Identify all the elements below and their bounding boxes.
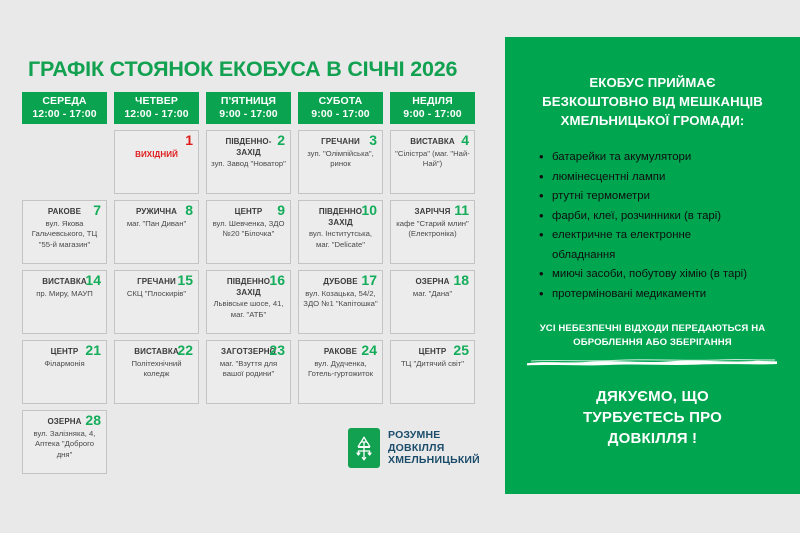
calendar-week-row: 7РАКОВЕвул. Якова Гальчевського, ТЦ "55-…	[22, 200, 490, 264]
stop-address: СКЦ "Плоскирів"	[127, 289, 186, 300]
stop-name: РАКОВЕ	[324, 347, 357, 358]
calendar-day-cell-23[interactable]: 23ЗАГОТЗЕРНОмаг. "Взуття для вашої родин…	[206, 340, 291, 404]
stop-address: вул. Шевченка, ЗДО №20 "Білочка"	[211, 219, 286, 240]
stop-address: вул. Дудченка, Готель-гуртожиток	[303, 359, 378, 380]
calendar-day-cell-22[interactable]: 22ВИСТАВКАПолітехнічний коледж	[114, 340, 199, 404]
day-header-3: П'ЯТНИЦЯ9:00 - 17:00	[206, 92, 291, 124]
day-number: 8	[185, 203, 193, 218]
thanks-line-1: ДЯКУЄМО, ЩО	[505, 386, 800, 407]
thanks-message: ДЯКУЄМО, ЩОТУРБУЄТЕСЬ ПРОДОВКІЛЛЯ !	[505, 386, 800, 449]
accepted-item: протерміновані медикаменти	[539, 285, 790, 305]
day-header-name: СЕРЕДА	[42, 95, 86, 108]
calendar-day-cell-15[interactable]: 15ГРЕЧАНИСКЦ "Плоскирів"	[114, 270, 199, 334]
stop-name: ВИХІДНИЙ	[135, 150, 178, 161]
recycling-tree-icon	[348, 428, 380, 468]
day-number: 25	[453, 343, 469, 358]
accepted-items-list: батарейки та акумуляторилюмінесцентні ла…	[505, 148, 800, 304]
calendar-day-cell-9[interactable]: 9ЦЕНТРвул. Шевченка, ЗДО №20 "Білочка"	[206, 200, 291, 264]
day-number: 3	[369, 133, 377, 148]
schedule-panel: ГРАФІК СТОЯНОК ЕКОБУСА В СІЧНІ 2026 СЕРЕ…	[0, 0, 505, 533]
stop-name: ГРЕЧАНИ	[137, 277, 176, 288]
logo-line-3: ХМЕЛЬНИЦЬКИЙ	[388, 454, 480, 467]
calendar-header-row: СЕРЕДА12:00 - 17:00ЧЕТВЕР12:00 - 17:00П'…	[22, 92, 490, 124]
day-header-2: ЧЕТВЕР12:00 - 17:00	[114, 92, 199, 124]
stop-address: "Сілістра" (маг. "Най-Най")	[395, 149, 470, 170]
stop-address: маг. "Взуття для вашої родини"	[211, 359, 286, 380]
logo-text: РОЗУМНЕ ДОВКІЛЛЯ ХМЕЛЬНИЦЬКИЙ	[388, 429, 480, 467]
calendar-day-cell-28[interactable]: 28ОЗЕРНАвул. Залізняка, 4, Аптека "Добро…	[22, 410, 107, 474]
accepted-item-continuation: обладнання	[552, 246, 790, 266]
stop-name: ЗАГОТЗЕРНО	[221, 347, 276, 358]
stop-address: маг. "Пан Диван"	[127, 219, 186, 230]
disposal-note: УСІ НЕБЕЗПЕЧНІ ВІДХОДИ ПЕРЕДАЮТЬСЯ НА ОБ…	[505, 322, 800, 349]
day-header-5: НЕДІЛЯ9:00 - 17:00	[390, 92, 475, 124]
calendar-day-cell-21[interactable]: 21ЦЕНТРФілармонія	[22, 340, 107, 404]
calendar-week-row: 1ВИХІДНИЙ2ПІВДЕННО-ЗАХІДзуп. Завод "Нова…	[22, 130, 490, 194]
calendar-day-cell-24[interactable]: 24РАКОВЕвул. Дудченка, Готель-гуртожиток	[298, 340, 383, 404]
disposal-note-line-2: ОБРОБЛЕННЯ АБО ЗБЕРІГАННЯ	[513, 336, 792, 350]
accepted-item: фарби, клеї, розчинники (в тарі)	[539, 207, 790, 227]
calendar-cell-empty	[206, 410, 291, 474]
calendar-week-row: 14ВИСТАВКАпр. Миру, МАУП15ГРЕЧАНИСКЦ "Пл…	[22, 270, 490, 334]
stop-address: кафе "Старий млин" (Електроніка)	[395, 219, 470, 240]
stop-address: зуп. Завод "Новатор"	[211, 159, 286, 170]
calendar-day-cell-17[interactable]: 17ДУБОВЕвул. Козацька, 54/2, ЗДО №1 "Кап…	[298, 270, 383, 334]
day-number: 7	[93, 203, 101, 218]
stop-address: Філармонія	[44, 359, 84, 370]
day-number: 23	[269, 343, 285, 358]
accept-heading-line-2: БЕЗКОШТОВНО ВІД МЕШКАНЦІВ	[519, 92, 786, 111]
accepted-item: ртутні термометри	[539, 187, 790, 207]
day-header-4: СУБОТА9:00 - 17:00	[298, 92, 383, 124]
thanks-line-3: ДОВКІЛЛЯ !	[505, 428, 800, 449]
calendar-day-cell-8[interactable]: 8РУЖИЧНАмаг. "Пан Диван"	[114, 200, 199, 264]
calendar-week-row: 21ЦЕНТРФілармонія22ВИСТАВКАПолітехнічний…	[22, 340, 490, 404]
calendar-day-cell-16[interactable]: 16ПІВДЕННО ЗАХІДЛьвівське шосе, 41, маг.…	[206, 270, 291, 334]
accept-heading: ЕКОБУС ПРИЙМАЄБЕЗКОШТОВНО ВІД МЕШКАНЦІВХ…	[505, 37, 800, 130]
calendar-grid: СЕРЕДА12:00 - 17:00ЧЕТВЕР12:00 - 17:00П'…	[22, 92, 490, 480]
day-header-1: СЕРЕДА12:00 - 17:00	[22, 92, 107, 124]
day-header-name: П'ЯТНИЦЯ	[221, 95, 276, 108]
calendar-day-cell-3[interactable]: 3ГРЕЧАНИзуп. "Олімпійська", ринок	[298, 130, 383, 194]
day-number: 1	[185, 133, 193, 148]
accepted-item: люмінесцентні лампи	[539, 168, 790, 188]
calendar-day-cell-2[interactable]: 2ПІВДЕННО-ЗАХІДзуп. Завод "Новатор"	[206, 130, 291, 194]
accepted-item: батарейки та акумулятори	[539, 148, 790, 168]
stop-name: ВИСТАВКА	[134, 347, 179, 358]
stop-name: ГРЕЧАНИ	[321, 137, 360, 148]
accept-heading-line-1: ЕКОБУС ПРИЙМАЄ	[519, 73, 786, 92]
day-number: 10	[361, 203, 377, 218]
day-header-name: СУБОТА	[319, 95, 363, 108]
info-panel: ЕКОБУС ПРИЙМАЄБЕЗКОШТОВНО ВІД МЕШКАНЦІВХ…	[505, 37, 800, 494]
stop-name: ПІВДЕННО-ЗАХІД	[215, 137, 283, 158]
stop-name: ЦЕНТР	[51, 347, 79, 358]
calendar-day-cell-4[interactable]: 4ВИСТАВКА"Сілістра" (маг. "Най-Най")	[390, 130, 475, 194]
stop-address: вул. Інститутська, маг. "Delicate"	[303, 229, 378, 250]
stop-address: вул. Козацька, 54/2, ЗДО №1 "Капітошка"	[303, 289, 378, 310]
day-number: 14	[85, 273, 101, 288]
stop-address: пр. Миру, МАУП	[36, 289, 93, 300]
thanks-line-2: ТУРБУЄТЕСЬ ПРО	[505, 407, 800, 428]
calendar-weeks: 1ВИХІДНИЙ2ПІВДЕННО-ЗАХІДзуп. Завод "Нова…	[22, 130, 490, 474]
calendar-day-cell-11[interactable]: 11ЗАРІЧЧЯкафе "Старий млин" (Електроніка…	[390, 200, 475, 264]
stop-name: ОЗЕРНА	[47, 417, 81, 428]
day-header-name: ЧЕТВЕР	[135, 95, 178, 108]
day-header-name: НЕДІЛЯ	[412, 95, 453, 108]
stop-address: зуп. "Олімпійська", ринок	[303, 149, 378, 170]
calendar-day-cell-10[interactable]: 10ПІВДЕННО ЗАХІДвул. Інститутська, маг. …	[298, 200, 383, 264]
calendar-cell-empty	[114, 410, 199, 474]
stop-name: ОЗЕРНА	[415, 277, 449, 288]
calendar-day-cell-1[interactable]: 1ВИХІДНИЙ	[114, 130, 199, 194]
brand-logo: РОЗУМНЕ ДОВКІЛЛЯ ХМЕЛЬНИЦЬКИЙ	[348, 428, 480, 468]
stop-name: ДУБОВЕ	[323, 277, 357, 288]
stop-address: маг. "Дана"	[413, 289, 452, 300]
day-header-time: 9:00 - 17:00	[311, 108, 369, 121]
stop-name: ВИСТАВКА	[410, 137, 455, 148]
brush-underline-decoration	[525, 353, 780, 361]
day-header-time: 9:00 - 17:00	[219, 108, 277, 121]
day-number: 18	[453, 273, 469, 288]
day-number: 15	[177, 273, 193, 288]
day-number: 11	[454, 203, 469, 218]
day-number: 9	[277, 203, 285, 218]
stop-name: ВИСТАВКА	[42, 277, 87, 288]
day-number: 28	[85, 413, 101, 428]
stop-address: Політехнічний коледж	[119, 359, 194, 380]
disposal-note-line-1: УСІ НЕБЕЗПЕЧНІ ВІДХОДИ ПЕРЕДАЮТЬСЯ НА	[513, 322, 792, 336]
day-number: 4	[461, 133, 469, 148]
stop-address: Львівське шосе, 41, маг. "АТБ"	[211, 299, 286, 320]
accepted-item: миючі засоби, побутову хімію (в тарі)	[539, 265, 790, 285]
stop-name: ЦЕНТР	[235, 207, 263, 218]
logo-line-1: РОЗУМНЕ	[388, 429, 480, 442]
calendar-day-cell-7[interactable]: 7РАКОВЕвул. Якова Гальчевського, ТЦ "55-…	[22, 200, 107, 264]
calendar-cell-empty	[22, 130, 107, 194]
logo-line-2: ДОВКІЛЛЯ	[388, 442, 480, 455]
day-number: 2	[277, 133, 285, 148]
stop-name: ЦЕНТР	[419, 347, 447, 358]
day-number: 24	[361, 343, 377, 358]
day-number: 21	[85, 343, 101, 358]
day-number: 22	[177, 343, 193, 358]
calendar-day-cell-18[interactable]: 18ОЗЕРНАмаг. "Дана"	[390, 270, 475, 334]
stop-name: ЗАРІЧЧЯ	[414, 207, 450, 218]
accepted-item: електричне та електроннеобладнання	[539, 226, 790, 265]
day-header-time: 12:00 - 17:00	[32, 108, 96, 121]
stop-address: ТЦ "Дитячий світ"	[401, 359, 464, 370]
accept-heading-line-3: ХМЕЛЬНИЦЬКОЇ ГРОМАДИ:	[519, 111, 786, 130]
calendar-day-cell-25[interactable]: 25ЦЕНТРТЦ "Дитячий світ"	[390, 340, 475, 404]
stop-name: РУЖИЧНА	[136, 207, 177, 218]
stop-address: вул. Залізняка, 4, Аптека "Доброго дня"	[27, 429, 102, 461]
day-header-time: 12:00 - 17:00	[124, 108, 188, 121]
page-title: ГРАФІК СТОЯНОК ЕКОБУСА В СІЧНІ 2026	[28, 57, 457, 82]
calendar-day-cell-14[interactable]: 14ВИСТАВКАпр. Миру, МАУП	[22, 270, 107, 334]
stop-name: РАКОВЕ	[48, 207, 81, 218]
day-header-time: 9:00 - 17:00	[403, 108, 461, 121]
day-number: 17	[361, 273, 377, 288]
stop-address: вул. Якова Гальчевського, ТЦ "55-й магаз…	[27, 219, 102, 251]
day-number: 16	[269, 273, 285, 288]
